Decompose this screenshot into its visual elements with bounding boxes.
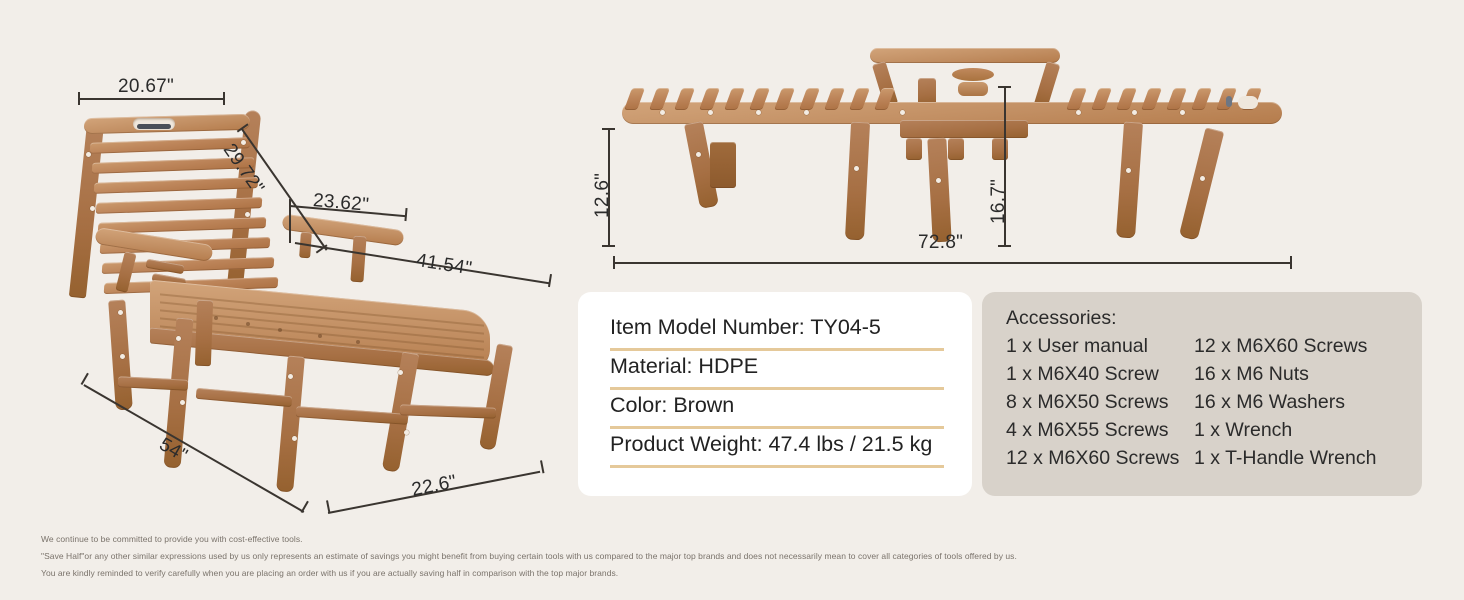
spec-divider-1 [610, 348, 944, 351]
accessories-title: Accessories: [1006, 307, 1117, 330]
accessory-item: 1 x M6X40 Screw [1006, 363, 1159, 386]
dimension-label-overall-length: 54" [155, 434, 191, 467]
accessory-item: 12 x M6X60 Screws [1194, 335, 1367, 358]
dimension-line-side-overall-length [613, 262, 1291, 264]
chaise-lounge-angled-view: 20.67" 29.72" 23.62" 41.54" 54" 22.6" [0, 0, 580, 540]
spec-row-material: Material: HDPE [610, 354, 944, 379]
dimension-label-foot-height: 12.6" [592, 173, 614, 218]
spec-divider-4 [610, 465, 944, 468]
spec-divider-3 [610, 426, 944, 429]
disclaimer-line-1: We continue to be committed to provide y… [41, 534, 303, 544]
specifications-panel: Item Model Number: TY04-5 Material: HDPE… [578, 292, 972, 496]
dimension-label-overall-width: 22.6" [410, 471, 459, 501]
accessories-panel: Accessories: 1 x User manual 1 x M6X40 S… [982, 292, 1422, 496]
spec-row-weight: Product Weight: 47.4 lbs / 21.5 kg [610, 432, 944, 457]
product-spec-sheet: 20.67" 29.72" 23.62" 41.54" 54" 22.6" [0, 0, 1464, 600]
chaise-lounge-side-view: 12.6" 16.7" 72.8" [600, 10, 1320, 280]
cup-holder [952, 68, 994, 81]
accessory-item: 1 x User manual [1006, 335, 1148, 358]
accessory-item: 4 x M6X55 Screws [1006, 419, 1169, 442]
accessory-item: 16 x M6 Nuts [1194, 363, 1309, 386]
disclaimer-line-3: You are kindly reminded to verify carefu… [41, 568, 618, 578]
foot-handle-cutout [1238, 96, 1258, 109]
dimension-label-side-overall-length: 72.8" [918, 232, 963, 254]
accessory-item: 8 x M6X50 Screws [1006, 391, 1169, 414]
accessory-item: 12 x M6X60 Screws [1006, 447, 1179, 470]
accessory-item: 1 x T-Handle Wrench [1194, 447, 1376, 470]
disclaimer-line-2: "Save Half"or any other similar expressi… [41, 551, 1017, 561]
accessory-item: 16 x M6 Washers [1194, 391, 1345, 414]
spec-divider-2 [610, 387, 944, 390]
dimension-line-backrest-width [78, 98, 224, 100]
accessory-item: 1 x Wrench [1194, 419, 1292, 442]
dimension-label-seat-height: 16.7" [988, 179, 1010, 224]
side-leg-5 [1179, 127, 1225, 240]
side-leg-2 [845, 122, 870, 241]
spec-row-color: Color: Brown [610, 393, 944, 418]
armrest-left [94, 227, 213, 262]
spec-row-model: Item Model Number: TY04-5 [610, 315, 944, 340]
dimension-label-backrest-width: 20.67" [118, 76, 174, 98]
side-leg-4 [1116, 121, 1143, 238]
